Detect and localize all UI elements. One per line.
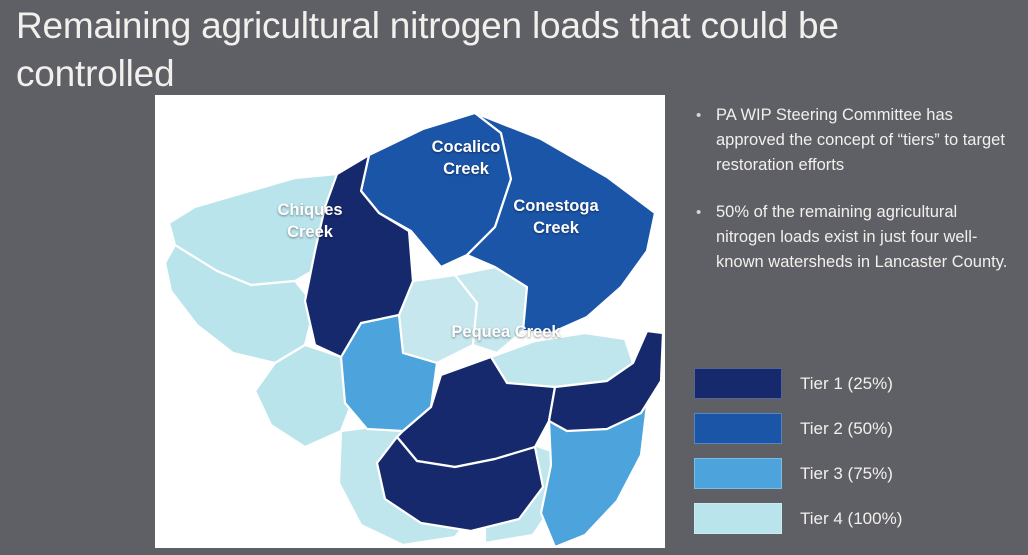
bullet-item-text: 50% of the remaining agricultural nitrog… (716, 200, 1012, 275)
legend-item-tier-3[interactable]: Tier 3 (75%) (694, 457, 1024, 489)
slide-canvas: Remaining agricultural nitrogen loads th… (0, 0, 1028, 555)
tier-legend: Tier 1 (25%) Tier 2 (50%) Tier 3 (75%) T… (694, 367, 1024, 547)
list-item: • 50% of the remaining agricultural nitr… (692, 200, 1012, 275)
bullet-item-text: PA WIP Steering Committee has approved t… (716, 103, 1012, 178)
legend-swatch-icon (694, 413, 782, 444)
bullet-list: • PA WIP Steering Committee has approved… (692, 103, 1012, 297)
legend-label: Tier 2 (50%) (782, 420, 1024, 437)
legend-item-tier-4[interactable]: Tier 4 (100%) (694, 502, 1024, 534)
legend-item-tier-2[interactable]: Tier 2 (50%) (694, 412, 1024, 444)
bullet-point-icon: • (692, 200, 716, 225)
legend-item-tier-1[interactable]: Tier 1 (25%) (694, 367, 1024, 399)
legend-swatch-icon (694, 458, 782, 489)
legend-swatch-icon (694, 503, 782, 534)
page-title: Remaining agricultural nitrogen loads th… (16, 2, 946, 98)
bullet-point-icon: • (692, 103, 716, 128)
legend-label: Tier 4 (100%) (782, 510, 1024, 527)
legend-label: Tier 3 (75%) (782, 465, 1024, 482)
legend-swatch-icon (694, 368, 782, 399)
legend-label: Tier 1 (25%) (782, 375, 1024, 392)
list-item: • PA WIP Steering Committee has approved… (692, 103, 1012, 178)
watershed-map-svg (155, 95, 665, 548)
watershed-map-panel[interactable]: Chiques Creek Cocalico Creek Conestoga C… (155, 95, 665, 548)
